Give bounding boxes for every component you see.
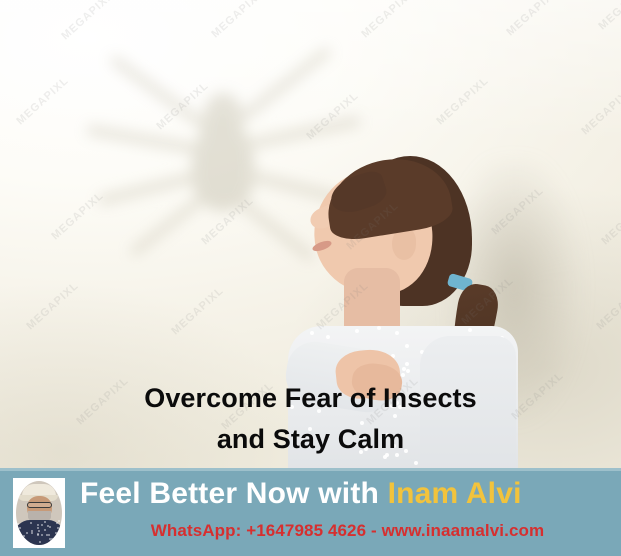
watermark-text: MEGAPIXL	[359, 0, 416, 40]
watermark-text: MEGAPIXL	[24, 280, 81, 333]
watermark-text: MEGAPIXL	[434, 75, 491, 128]
watermark-text: MEGAPIXL	[504, 0, 561, 38]
headline-line-2: and Stay Calm	[0, 419, 621, 460]
banner-title-prefix: Feel Better Now with	[80, 477, 388, 510]
watermark-text: MEGAPIXL	[209, 0, 266, 40]
poster-canvas: MEGAPIXLMEGAPIXLMEGAPIXLMEGAPIXLMEGAPIXL…	[0, 0, 621, 556]
watermark-text: MEGAPIXL	[59, 0, 116, 42]
banner-brand-name: Inam Alvi	[388, 477, 522, 510]
watermark-text: MEGAPIXL	[596, 0, 621, 32]
contact-banner: Feel Better Now with Inam Alvi WhatsApp:…	[0, 468, 621, 556]
watermark-text: MEGAPIXL	[14, 75, 71, 128]
glasses-icon	[27, 502, 52, 508]
watermark-text: MEGAPIXL	[579, 85, 621, 138]
avatar	[13, 478, 65, 548]
banner-title: Feel Better Now with Inam Alvi	[80, 477, 615, 511]
contact-line[interactable]: WhatsApp: +1647985 4626 - www.inaamalvi.…	[80, 521, 615, 541]
headline-line-1: Overcome Fear of Insects	[144, 383, 477, 413]
watermark-text: MEGAPIXL	[169, 285, 226, 338]
page-title: Overcome Fear of Insects and Stay Calm	[0, 378, 621, 460]
